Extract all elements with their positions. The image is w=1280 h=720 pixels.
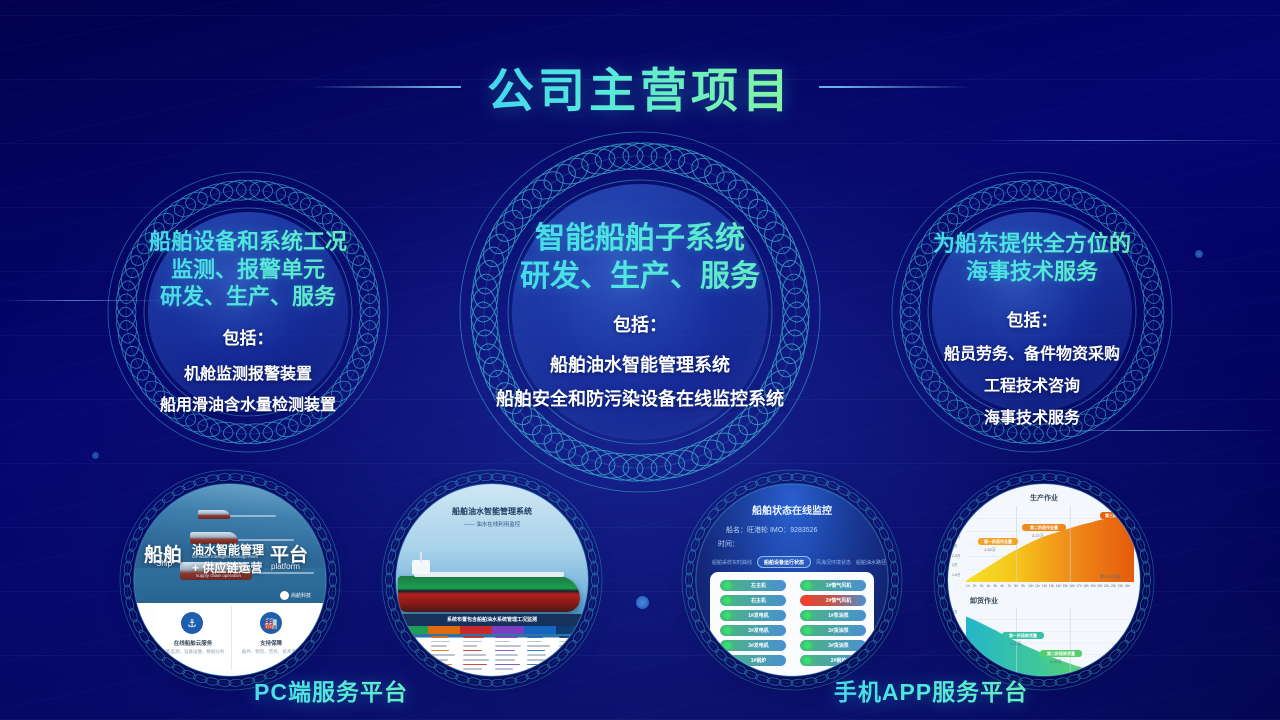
- monitor-title: 船舶状态在线监控: [696, 502, 888, 517]
- table-header-cell: [396, 626, 428, 634]
- table-cell-line: [399, 636, 416, 638]
- table-cell-line: [527, 668, 541, 670]
- pc-hero-right-en: platform: [271, 562, 300, 571]
- table-cell-line: [399, 668, 422, 670]
- pc-card-1-desc: 智能监测、设备运维、数据分析: [154, 649, 232, 655]
- table-cell-line: [431, 654, 455, 656]
- node-left-item-1: 船用滑油含水量检测装置: [104, 394, 392, 419]
- chart-2-ytick: 2万: [952, 643, 957, 648]
- equipment-name: 1#发电机: [731, 612, 786, 619]
- chart-1-xtick: 1h: [966, 584, 970, 588]
- table-cell-line: [463, 668, 482, 670]
- tab-oil-path[interactable]: 船舶油水路径: [856, 559, 886, 566]
- chart-2-ytick: 1万: [952, 654, 957, 659]
- table-cell-line: [527, 636, 543, 638]
- status-led-icon: [804, 657, 811, 664]
- chart-1-xtick: 21h: [1104, 584, 1109, 588]
- table-cell-line: [495, 650, 515, 652]
- status-led-icon: [724, 627, 731, 634]
- table-cell-line: [463, 645, 477, 647]
- monitor-imo-label: IMO：: [770, 527, 790, 534]
- chart-1-ytick: 2万: [952, 563, 957, 568]
- table-header-cell: [524, 626, 556, 634]
- chart-1-ytick: 4.5万: [952, 516, 960, 521]
- status-led-icon: [724, 612, 731, 619]
- oilwater-bar-label: 系统布置包含船舶油水系统管理工况监测: [396, 616, 588, 623]
- table-cell-line: [399, 659, 424, 661]
- title-rule-left: [309, 86, 461, 88]
- table-cell-line: [559, 641, 574, 643]
- pc-hero-left-en: Ship: [156, 559, 172, 568]
- table-cell-line: [559, 654, 582, 656]
- chart-1-axis-note: 累计作业量: [1100, 574, 1120, 580]
- monitor-vessel-row: 船名：旺港轮 IMO：9283526: [726, 525, 817, 535]
- table-cell-line: [495, 668, 513, 670]
- chart-1-xtick: 15h: [1063, 584, 1068, 588]
- table-cell-line: [431, 641, 450, 643]
- monitor-vessel-name: 旺港轮: [747, 527, 768, 534]
- table-header-cell: [428, 626, 460, 634]
- table-cell-line: [495, 664, 520, 666]
- equipment-name: 2#惰气风机: [811, 597, 866, 604]
- chart-1-xtick: 14h: [1056, 584, 1061, 588]
- table-cell-line: [527, 645, 550, 647]
- node-left[interactable]: 船舶设备和系统工况 监测、报警单元 研发、生产、服务 包括： 机舱监测报警装置 …: [104, 168, 392, 456]
- pc-card-2-desc: 备件、物资、劳务、技术咨询: [232, 649, 310, 655]
- equipment-pill[interactable]: 2#发电机: [720, 625, 786, 636]
- node-left-sub-label: 包括：: [104, 326, 392, 352]
- monitor-imo-value: 9283526: [790, 527, 817, 534]
- chart-1-title: 生产作业: [948, 493, 1140, 503]
- oilwater-ship-bridge: [412, 560, 430, 574]
- caption-app-platform: 手机APP服务平台: [790, 673, 1072, 707]
- chart-1-xtick: 19h: [1090, 584, 1095, 588]
- node-right-heading: 为船东提供全方位的 海事技术服务: [888, 230, 1176, 285]
- pc-ship-wake-1: [230, 515, 276, 517]
- equipment-name: 1#锅炉: [731, 657, 786, 664]
- table-cell-line: [495, 659, 515, 661]
- oilwater-ship-hull: [398, 576, 580, 612]
- chart-1-ytick: 2.5万: [952, 554, 960, 559]
- equipment-pill[interactable]: 左主机: [720, 580, 786, 591]
- chart-1-xtick: 3h: [980, 584, 984, 588]
- tab-equipment-status[interactable]: 船舶设备运行状态: [757, 556, 811, 568]
- chart-1-ytick: 5万: [952, 506, 957, 511]
- pc-hero-mid-en2: supply chain operation: [196, 573, 241, 578]
- chart-1-xtick: 8h: [1014, 584, 1018, 588]
- chart-1-xtick: 24h: [1125, 584, 1130, 588]
- table-cell-line: [559, 645, 580, 647]
- accent-dot-3: [92, 452, 99, 459]
- chart-2-annotation-0: 第一阶段卸货量: [1002, 632, 1044, 639]
- equipment-name: 3#货油泵: [811, 642, 866, 649]
- table-cell-line: [463, 650, 482, 652]
- status-led-icon: [804, 627, 811, 634]
- status-led-icon: [724, 582, 731, 589]
- equipment-name: 2#锅炉: [811, 657, 866, 664]
- table-cell-line: [495, 654, 518, 656]
- thumbnail-pc-platform[interactable]: 船舶 Ship 油水智能管理 Oil-water intelligent man…: [134, 484, 326, 676]
- equipment-name: 2#货油泵: [811, 627, 866, 634]
- table-cell-line: [527, 664, 552, 666]
- chart-1-ytick: 4万: [952, 525, 957, 530]
- chart-1-xtick: 5h: [994, 584, 998, 588]
- table-cell-line: [495, 636, 518, 638]
- equipment-pill[interactable]: 1#惰气风机: [800, 580, 866, 591]
- equipment-pill[interactable]: 2#货油泵: [800, 625, 866, 636]
- oilwater-subtitle: —— 油水在线利用监控: [396, 520, 588, 528]
- equipment-pill[interactable]: 2#惰气风机: [800, 595, 866, 606]
- table-cell-line: [463, 659, 489, 661]
- chart-1-annotation-0: 第一阶段作业量: [978, 538, 1018, 545]
- thumbnail-oilwater-system[interactable]: 船舶油水智能管理系统 —— 油水在线利用监控 油水组件 系统布置包含船舶油水系统…: [396, 484, 588, 676]
- table-header-cell: [556, 626, 588, 634]
- table-cell-line: [399, 641, 415, 643]
- equipment-pill[interactable]: 1#泵油泵: [800, 610, 866, 621]
- table-cell-line: [463, 641, 482, 643]
- chart-1-annotation-1: 第二阶段作业量: [1022, 524, 1066, 531]
- table-cell-line: [527, 641, 542, 643]
- chart-1-xtick: 20h: [1097, 584, 1102, 588]
- accent-dot-1: [636, 596, 649, 609]
- pc-card-2-title: 支持保障: [232, 639, 310, 647]
- status-led-icon: [804, 642, 811, 649]
- monitor-time-label: 时间：: [718, 539, 739, 549]
- node-center-item-1: 船舶安全和防污染设备在线监控系统: [456, 386, 824, 414]
- chart-1-xtick: 12h: [1042, 584, 1047, 588]
- chart-1-xtick: 10h: [1028, 584, 1033, 588]
- node-center-item-0: 船舶油水智能管理系统: [456, 352, 824, 380]
- node-right-item-2: 海事技术服务: [888, 407, 1176, 432]
- table-cell-line: [399, 664, 415, 666]
- table-cell-line: [399, 650, 420, 652]
- table-cell-line: [559, 650, 579, 652]
- thumbnail-charts[interactable]: 生产作业 5万4.5万4万3.5万3万2.5万2万1.5万 1h2h3h4h5h…: [948, 484, 1140, 676]
- chart-1-xtick: 13h: [1049, 584, 1054, 588]
- chart-1-xtick: 22h: [1111, 584, 1116, 588]
- chart-2-title: 卸货作业: [970, 596, 998, 606]
- equipment-name: 2#发电机: [731, 627, 786, 634]
- equipment-name: 右主机: [731, 597, 786, 604]
- equipment-name: 3#发电机: [731, 642, 786, 649]
- thumbnail-status-monitor[interactable]: 船舶状态在线监控 船名：旺港轮 IMO：9283526 时间： 船舶采样实时曲线…: [696, 484, 888, 676]
- equipment-name: 1#泵油泵: [811, 612, 866, 619]
- table-cell-line: [431, 645, 447, 647]
- chart-1-ytick: 3万: [952, 544, 957, 549]
- equipment-pill[interactable]: 3#货油泵: [800, 640, 866, 651]
- page-header: 公司主营项目: [0, 52, 1280, 121]
- pc-card-1-title: 在线船舶云服务: [154, 639, 232, 647]
- node-center-heading: 智能船舶子系统 研发、生产、服务: [456, 220, 824, 296]
- table-cell-line: [559, 636, 583, 638]
- chart-2-annotation-0-value: 1.52万: [1010, 641, 1022, 647]
- chart-1-xtick: 2h: [973, 584, 977, 588]
- status-led-icon: [724, 642, 731, 649]
- chart-1-xtick: 18h: [1083, 584, 1088, 588]
- pc-brand-logo: 尚航科技: [280, 591, 311, 600]
- chart-1-annotation-0-value: 1.52万: [984, 547, 996, 553]
- table-cell-line: [431, 636, 448, 638]
- chart-1-ytick: 3.5万: [952, 535, 960, 540]
- chart-2-ytick: 4万: [952, 621, 957, 626]
- status-led-icon: [804, 612, 811, 619]
- ship-service-icon: ⚓: [181, 612, 203, 634]
- node-right[interactable]: 为船东提供全方位的 海事技术服务 包括： 船员劳务、备件物资采购 工程技术咨询 …: [888, 168, 1176, 456]
- chart-1-annotation-2: 第三阶段作业量: [1100, 512, 1138, 519]
- table-cell-line: [431, 664, 452, 666]
- table-cell-line: [527, 659, 548, 661]
- chart-1-ytick: 1.5万: [952, 573, 960, 578]
- table-header-cell: [460, 626, 492, 634]
- chart-2-ytick: 3万: [952, 632, 957, 637]
- brand-mark-icon: [280, 591, 289, 600]
- table-cell-line: [463, 664, 487, 666]
- chart-1-xtick: 7h: [1007, 584, 1011, 588]
- tab-sampling-curve[interactable]: 船舶采样实时曲线: [712, 559, 752, 566]
- monitor-tabs[interactable]: 船舶采样实时曲线 船舶设备运行状态 风海况环境状态 船舶油水路径: [712, 556, 886, 568]
- node-right-item-0: 船员劳务、备件物资采购: [888, 343, 1176, 368]
- status-led-icon: [724, 597, 731, 604]
- title-rule-right: [819, 86, 971, 88]
- equipment-pill[interactable]: 1#锅炉: [720, 655, 786, 666]
- status-led-icon: [724, 657, 731, 664]
- monitor-vessel-label: 船名：: [726, 527, 747, 534]
- oilwater-ship-mast-icon: [420, 552, 422, 562]
- pc-ship-1: [198, 510, 230, 519]
- oilwater-title: 船舶油水智能管理系统: [396, 506, 588, 517]
- table-cell-line: [463, 636, 484, 638]
- node-right-sub-label: 包括：: [888, 308, 1176, 334]
- pc-brand-name: 尚航科技: [291, 592, 311, 599]
- equipment-pill[interactable]: 1#发电机: [720, 610, 786, 621]
- chart-1-xtick: 9h: [1021, 584, 1025, 588]
- chart-2-annotation-1-value: 4.03万: [1050, 659, 1062, 665]
- oilwater-table-header: [396, 626, 588, 634]
- table-cell-line: [431, 659, 448, 661]
- chart-1-xtick: 4h: [987, 584, 991, 588]
- warehouse-icon: 🏭: [260, 612, 282, 634]
- caption-pc-platform: PC端服务平台: [200, 673, 462, 707]
- node-right-item-1: 工程技术咨询: [888, 375, 1176, 400]
- chart-1-xtick: 11h: [1035, 584, 1040, 588]
- equipment-name: 1#惰气风机: [811, 582, 866, 589]
- node-left-item-0: 机舱监测报警装置: [104, 363, 392, 388]
- status-led-icon: [804, 582, 811, 589]
- chart-1-annotation-1-value: 3.27万: [1032, 533, 1044, 539]
- oilwater-table-rows: [396, 636, 588, 676]
- table-cell-line: [495, 641, 510, 643]
- accent-dot-2: [1195, 250, 1203, 258]
- chart-1-xtick: 16h: [1070, 584, 1075, 588]
- chart-2-annotation-1: 第二阶段卸货量: [1040, 650, 1082, 657]
- status-led-icon: [804, 597, 811, 604]
- table-cell-line: [559, 659, 578, 661]
- node-left-heading: 船舶设备和系统工况 监测、报警单元 研发、生产、服务: [104, 228, 392, 311]
- hairline-decor-1: [980, 140, 1280, 141]
- table-cell-line: [559, 668, 577, 670]
- table-header-cell: [492, 626, 524, 634]
- node-center[interactable]: 智能船舶子系统 研发、生产、服务 包括： 船舶油水智能管理系统 船舶安全和防污染…: [456, 128, 824, 496]
- node-center-sub-label: 包括：: [456, 312, 824, 340]
- table-cell-line: [399, 645, 413, 647]
- chart-2-ytick: 5万: [952, 610, 957, 615]
- table-cell-line: [559, 664, 577, 666]
- table-cell-line: [463, 654, 486, 656]
- chart-1-xtick: 17h: [1076, 584, 1081, 588]
- equipment-pill[interactable]: 右主机: [720, 595, 786, 606]
- equipment-pill[interactable]: 3#发电机: [720, 640, 786, 651]
- table-cell-line: [431, 650, 449, 652]
- table-cell-line: [527, 654, 546, 656]
- table-cell-line: [527, 650, 545, 652]
- chart-1-xtick: 23h: [1118, 584, 1123, 588]
- equipment-name: 左主机: [731, 582, 786, 589]
- oilwater-ship-deck: [414, 572, 564, 577]
- chart-1-xtick: 6h: [1001, 584, 1005, 588]
- table-cell-line: [495, 645, 521, 647]
- page-title: 公司主营项目: [487, 52, 793, 121]
- table-cell-line: [399, 654, 421, 656]
- table-cell-line: [431, 668, 448, 670]
- tab-environment[interactable]: 风海况环境状态: [816, 559, 851, 566]
- equipment-pill[interactable]: 2#锅炉: [800, 655, 866, 666]
- chart-2-area: [966, 608, 1134, 676]
